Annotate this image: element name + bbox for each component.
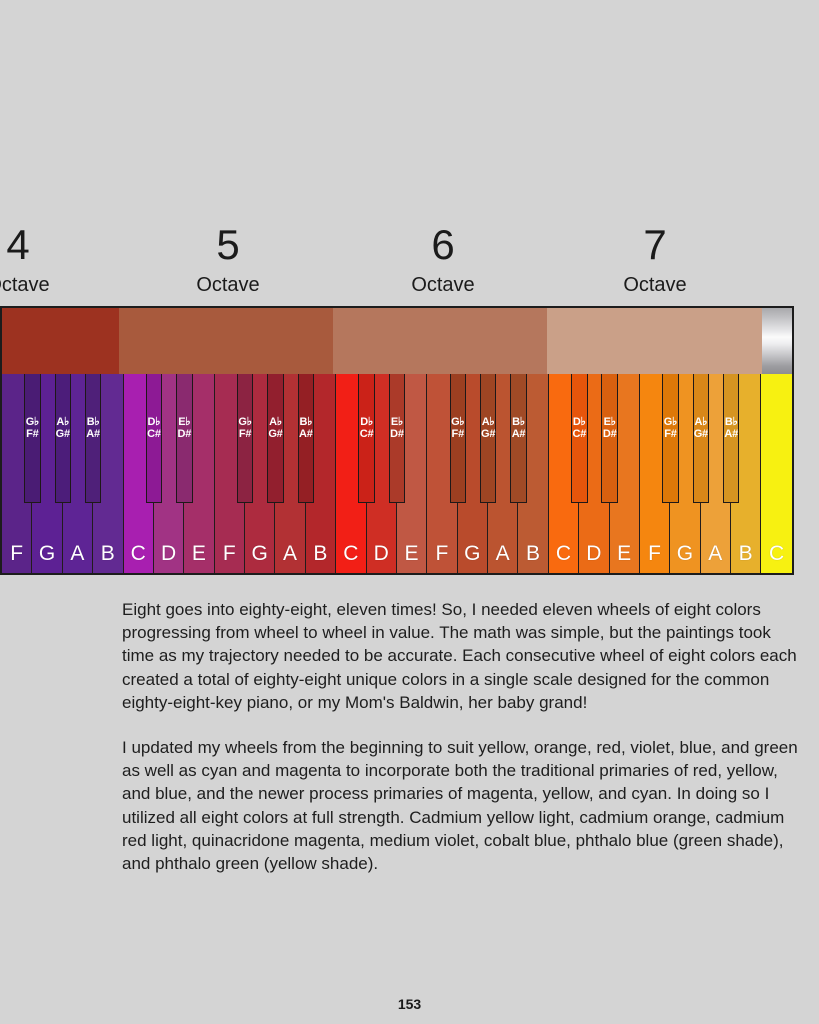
black-key-asharp-7[interactable]: B♭A# bbox=[298, 374, 314, 503]
black-key-asharp-12[interactable]: B♭A# bbox=[510, 374, 526, 503]
black-key-fsharp-5[interactable]: G♭F# bbox=[237, 374, 253, 503]
black-key-fsharp-0[interactable]: G♭F# bbox=[24, 374, 40, 503]
black-key-flat-label: G♭ bbox=[26, 416, 39, 428]
black-key-dsharp-4[interactable]: E♭D# bbox=[176, 374, 192, 503]
value-gradient-bar bbox=[2, 308, 792, 374]
octave-group-7: 7Octave bbox=[595, 222, 715, 298]
octave-number: 6 bbox=[383, 222, 503, 268]
white-key-label: E bbox=[617, 543, 631, 575]
black-key-flat-label: A♭ bbox=[269, 416, 282, 428]
white-key-label: G bbox=[39, 543, 55, 575]
white-key-label: A bbox=[283, 543, 297, 575]
black-key-sharp-label: A# bbox=[86, 428, 100, 440]
black-key-flat-label: B♭ bbox=[725, 416, 738, 428]
page-root: 4Octave5Octave6Octave7Octave FGABCDEFGAB… bbox=[0, 0, 819, 1024]
white-key-label: B bbox=[739, 543, 753, 575]
black-key-asharp-17[interactable]: B♭A# bbox=[723, 374, 739, 503]
white-key-c-25[interactable]: C bbox=[761, 374, 791, 575]
white-key-label: D bbox=[374, 543, 389, 575]
white-key-label: C bbox=[343, 543, 358, 575]
black-key-sharp-label: D# bbox=[177, 428, 191, 440]
black-key-flat-label: E♭ bbox=[178, 416, 190, 428]
black-key-flat-label: B♭ bbox=[299, 416, 312, 428]
black-key-flat-label: A♭ bbox=[56, 416, 69, 428]
white-key-label: D bbox=[586, 543, 601, 575]
black-key-gsharp-6[interactable]: A♭G# bbox=[267, 374, 283, 503]
white-key-label: E bbox=[405, 543, 419, 575]
octave-number: 5 bbox=[168, 222, 288, 268]
black-key-gsharp-1[interactable]: A♭G# bbox=[55, 374, 71, 503]
black-key-csharp-8[interactable]: D♭C# bbox=[358, 374, 374, 503]
black-key-sharp-label: D# bbox=[390, 428, 404, 440]
octave-number: 4 bbox=[0, 222, 78, 268]
black-key-sharp-label: C# bbox=[147, 428, 161, 440]
white-key-label: G bbox=[464, 543, 480, 575]
black-key-flat-label: A♭ bbox=[482, 416, 495, 428]
octave-group-5: 5Octave bbox=[168, 222, 288, 298]
value-band-1 bbox=[2, 308, 119, 374]
octave-label: Octave bbox=[0, 272, 78, 298]
octave-group-6: 6Octave bbox=[383, 222, 503, 298]
paragraph-1: Eight goes into eighty-eight, eleven tim… bbox=[122, 598, 802, 714]
octave-label: Octave bbox=[383, 272, 503, 298]
black-key-flat-label: D♭ bbox=[148, 416, 161, 428]
black-key-sharp-label: A# bbox=[299, 428, 313, 440]
black-key-sharp-label: G# bbox=[481, 428, 495, 440]
white-key-label: C bbox=[556, 543, 571, 575]
black-key-flat-label: E♭ bbox=[391, 416, 403, 428]
octave-header-row: 4Octave5Octave6Octave7Octave bbox=[0, 222, 819, 306]
black-key-csharp-3[interactable]: D♭C# bbox=[146, 374, 162, 503]
black-key-sharp-label: C# bbox=[572, 428, 586, 440]
black-key-sharp-label: G# bbox=[268, 428, 282, 440]
black-key-flat-label: G♭ bbox=[238, 416, 251, 428]
white-key-label: C bbox=[769, 543, 784, 575]
white-key-label: F bbox=[223, 543, 236, 575]
white-key-label: F bbox=[10, 543, 23, 575]
black-key-sharp-label: D# bbox=[603, 428, 617, 440]
white-key-label: F bbox=[648, 543, 661, 575]
white-key-label: A bbox=[70, 543, 84, 575]
black-key-flat-label: G♭ bbox=[664, 416, 677, 428]
black-key-sharp-label: F# bbox=[239, 428, 251, 440]
black-key-fsharp-10[interactable]: G♭F# bbox=[450, 374, 466, 503]
black-key-sharp-label: A# bbox=[512, 428, 526, 440]
body-text-block: Eight goes into eighty-eight, eleven tim… bbox=[122, 598, 802, 875]
value-band-4 bbox=[547, 308, 762, 374]
octave-number: 7 bbox=[595, 222, 715, 268]
white-key-label: B bbox=[313, 543, 327, 575]
white-key-label: G bbox=[252, 543, 268, 575]
black-key-fsharp-15[interactable]: G♭F# bbox=[662, 374, 678, 503]
black-key-sharp-label: G# bbox=[694, 428, 708, 440]
black-key-sharp-label: C# bbox=[360, 428, 374, 440]
black-key-dsharp-14[interactable]: E♭D# bbox=[601, 374, 617, 503]
black-key-flat-label: B♭ bbox=[512, 416, 525, 428]
piano-keyboard-figure: FGABCDEFGABCDEFGABCDEFGABC G♭F#A♭G#B♭A#D… bbox=[0, 306, 794, 575]
black-key-sharp-label: F# bbox=[452, 428, 464, 440]
silver-gradient bbox=[762, 308, 792, 374]
white-key-label: F bbox=[436, 543, 449, 575]
paragraph-2: I updated my wheels from the beginning t… bbox=[122, 736, 802, 875]
white-key-label: C bbox=[131, 543, 146, 575]
octave-label: Octave bbox=[595, 272, 715, 298]
value-band-2 bbox=[119, 308, 333, 374]
black-key-asharp-2[interactable]: B♭A# bbox=[85, 374, 101, 503]
black-key-flat-label: B♭ bbox=[87, 416, 100, 428]
black-key-flat-label: E♭ bbox=[604, 416, 616, 428]
octave-label: Octave bbox=[168, 272, 288, 298]
value-band-3 bbox=[333, 308, 547, 374]
black-key-sharp-label: G# bbox=[56, 428, 70, 440]
black-key-flat-label: D♭ bbox=[360, 416, 373, 428]
white-key-label: A bbox=[708, 543, 722, 575]
black-key-flat-label: A♭ bbox=[694, 416, 707, 428]
page-number: 153 bbox=[0, 996, 819, 1012]
black-key-gsharp-16[interactable]: A♭G# bbox=[693, 374, 709, 503]
black-key-flat-label: G♭ bbox=[451, 416, 464, 428]
white-key-label: B bbox=[526, 543, 540, 575]
white-key-label: A bbox=[496, 543, 510, 575]
black-key-sharp-label: F# bbox=[26, 428, 38, 440]
white-key-label: E bbox=[192, 543, 206, 575]
black-key-csharp-13[interactable]: D♭C# bbox=[571, 374, 587, 503]
black-key-gsharp-11[interactable]: A♭G# bbox=[480, 374, 496, 503]
white-key-label: B bbox=[101, 543, 115, 575]
octave-group-4: 4Octave bbox=[0, 222, 78, 298]
white-key-label: G bbox=[677, 543, 693, 575]
black-key-sharp-label: A# bbox=[724, 428, 738, 440]
black-key-dsharp-9[interactable]: E♭D# bbox=[389, 374, 405, 503]
white-key-label: D bbox=[161, 543, 176, 575]
black-key-sharp-label: F# bbox=[664, 428, 676, 440]
black-key-flat-label: D♭ bbox=[573, 416, 586, 428]
